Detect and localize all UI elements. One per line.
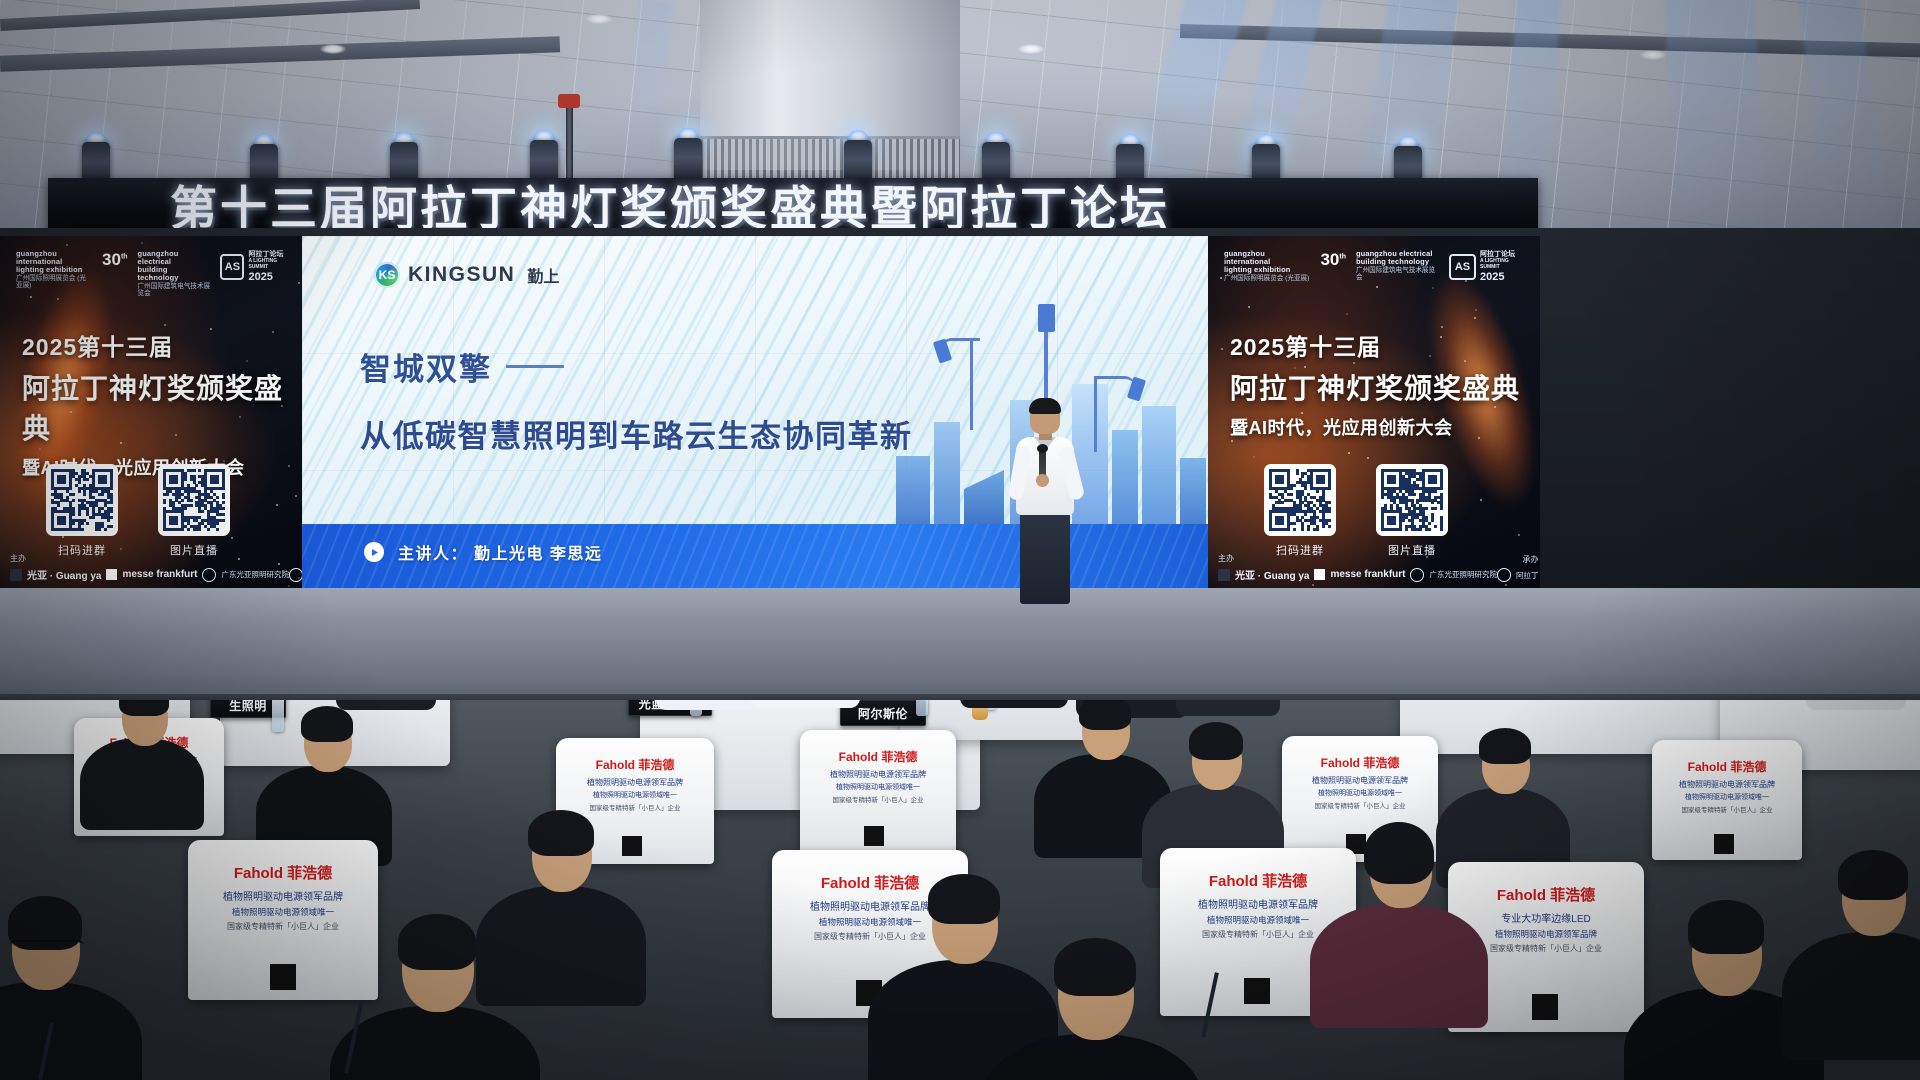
aladdin-icon	[1497, 568, 1511, 582]
chair-qr-icon	[864, 826, 884, 846]
poster-title-line1: 2025第十三届	[22, 328, 288, 362]
chair-brand: Fahold 菲浩德	[1160, 870, 1356, 891]
poster-credits: 主办 光亚 · Guang ya messe frankfurt 广东光亚照明研…	[10, 553, 292, 582]
as-year: 2025	[248, 271, 290, 284]
person-hair	[1688, 900, 1764, 954]
host-name-3: 广东光亚照明研究院	[221, 569, 289, 580]
street-lamp	[934, 336, 994, 430]
person-hair	[1079, 700, 1131, 730]
eyeglasses	[10, 940, 84, 952]
water-bottle	[272, 700, 284, 732]
chair-line3: 植物照明驱动电源领域唯一	[188, 906, 378, 918]
stage-floor	[0, 588, 1920, 708]
gebt-en-line1: guangzhou electrical	[138, 250, 211, 266]
person-shoulders	[656, 700, 762, 710]
event-poster-right: guangzhou international lighting exhibit…	[1208, 236, 1540, 588]
host-name-2: messe frankfurt	[122, 569, 197, 580]
host-name-1: 光亚 · Guang ya	[27, 567, 101, 582]
poster-qr-row: 扫码进群 图片直播	[46, 464, 230, 558]
chair-brand: Fahold 菲浩德	[188, 862, 378, 883]
person-shoulders	[1176, 700, 1280, 716]
chair-line3: 植物照明驱动电源领域唯一	[1652, 792, 1802, 802]
gile-en-line1: guangzhou international	[1224, 250, 1310, 266]
gebt-cn: 广州国际建筑电气技术展览会	[1356, 267, 1439, 281]
poster-title-block: 2025第十三届 阿拉丁神灯奖颁奖盛典 暨AI时代，光应用创新大会	[1230, 328, 1526, 440]
microphone-head	[1037, 444, 1048, 453]
chair-qr-icon	[1714, 834, 1734, 854]
gebt-cn: 广州国际建筑电气技术展览会	[138, 283, 211, 297]
messe-frankfurt-icon	[106, 569, 117, 580]
gdlighting-institute-icon	[202, 568, 216, 582]
poster-credits: 主办 光亚 · Guang ya messe frankfurt 广东光亚照明研…	[1218, 553, 1530, 582]
person-shoulders	[336, 700, 436, 710]
lamp-pole	[970, 338, 973, 430]
presenter-line: 主讲人： 勤上光电 李思远	[364, 540, 602, 564]
photo-live-qr[interactable]	[1376, 464, 1448, 536]
poster-title-line2: 阿拉丁神灯奖颁奖盛典	[22, 367, 288, 447]
street-lamp	[1084, 374, 1144, 452]
anniversary-number: 30	[1320, 250, 1339, 269]
kingsun-badge-icon: KS	[374, 262, 400, 288]
poster-sponsor-logos: guangzhou international lighting exhibit…	[16, 250, 290, 298]
aladdin-summit-text: 阿拉丁论坛 A LIGHTING SUMMIT 2025	[1480, 251, 1528, 283]
person-shoulders	[1310, 904, 1488, 1028]
gile-en-line2: lighting exhibition	[16, 266, 92, 274]
person-hair	[301, 706, 353, 742]
gebt-en-line2: building technology	[138, 266, 211, 282]
person-hair	[1838, 850, 1908, 900]
person-hair	[928, 874, 1000, 924]
slide-title-block: 智城双擎 从低碳智慧照明到车路云生态协同革新	[360, 344, 913, 456]
building	[934, 422, 960, 526]
chair-cover: Fahold 菲浩德 植物照明驱动电源领军品牌 植物照明驱动电源领域唯一 国家级…	[800, 730, 956, 854]
chair-qr-icon	[1244, 978, 1270, 1004]
host-name-1: 光亚 · Guang ya	[1235, 567, 1309, 582]
event-poster-left: guangzhou international lighting exhibit…	[0, 236, 302, 588]
building	[1180, 458, 1206, 526]
chair-line2: 植物照明驱动电源领军品牌	[188, 888, 378, 903]
coorganizer-label: 承办	[1522, 554, 1538, 565]
gdlighting-institute-icon	[1410, 568, 1424, 582]
chair-brand: Fahold 菲浩德	[1652, 758, 1802, 775]
join-group-qr-box[interactable]: 扫码进群	[46, 464, 118, 558]
poster-sponsor-logos: guangzhou international lighting exhibit…	[1224, 250, 1528, 283]
play-icon	[364, 542, 384, 562]
aladdin-icon	[289, 568, 302, 582]
anniversary-badge: 30th	[102, 251, 128, 269]
photo-live-qr-box[interactable]: 图片直播	[1376, 464, 1448, 558]
gebt-logo: guangzhou electrical building technology…	[1356, 250, 1439, 281]
chair-qr-icon	[622, 836, 642, 856]
person-hair	[1054, 938, 1136, 996]
chair-line2: 专业大功率边缘LED	[1448, 910, 1644, 925]
chair-line3: 植物照明驱动电源领域唯一	[1282, 788, 1438, 798]
coorganizer-credits: 承办 阿拉丁	[289, 554, 302, 582]
as-year: 2025	[1480, 271, 1528, 284]
speaker-hand	[1036, 474, 1049, 487]
person-shoulders	[80, 738, 204, 830]
poster-title-line1: 2025第十三届	[1230, 328, 1526, 362]
audience-area: 廖正德 生照明 光蓝半导体 阿尔斯伦	[0, 700, 1920, 1080]
guangya-icon	[10, 569, 22, 581]
chair-brand: Fahold 菲浩德	[1448, 884, 1644, 905]
chair-qr-icon	[270, 964, 296, 990]
join-group-qr-box[interactable]: 扫码进群	[1264, 464, 1336, 558]
photo-live-qr-box[interactable]: 图片直播	[158, 464, 230, 558]
coorganizer-name: 阿拉丁	[1516, 570, 1539, 581]
gebt-logo: guangzhou electrical building technology…	[138, 250, 211, 298]
ceiling-downlight	[1640, 50, 1666, 60]
anniversary-badge: 30th	[1320, 251, 1346, 269]
building	[964, 470, 1004, 526]
host-credits: 主办 光亚 · Guang ya messe frankfurt 广东光亚照明研…	[10, 553, 289, 582]
anniversary-suffix: th	[121, 253, 128, 260]
join-group-qr[interactable]	[46, 464, 118, 536]
person-hair	[398, 914, 476, 970]
chair-brand: Fahold 菲浩德	[1282, 754, 1438, 771]
gile-logo: guangzhou international lighting exhibit…	[1224, 250, 1310, 282]
chair-line4: 国家级专精特新「小巨人」企业	[188, 921, 378, 932]
kingsun-logo: KS KINGSUN 勤上	[374, 262, 559, 288]
chair-line3: 植物照明驱动电源领域唯一	[556, 790, 714, 800]
aladdin-summit-icon: AS	[1449, 254, 1476, 280]
gebt-en-line2: building technology	[1356, 258, 1439, 266]
person-shoulders	[330, 1006, 540, 1080]
person-shoulders	[0, 982, 142, 1080]
host-name-2: messe frankfurt	[1330, 569, 1405, 580]
person-hair	[528, 810, 594, 856]
chair-line4: 国家级专精特新「小巨人」企业	[1652, 804, 1802, 814]
person-shoulders	[960, 700, 1068, 708]
presenter-text: 主讲人： 勤上光电 李思远	[398, 540, 602, 564]
person-hair	[119, 700, 169, 716]
photo-live-qr[interactable]	[158, 464, 230, 536]
chair-line2: 植物照明驱动电源领军品牌	[1652, 779, 1802, 790]
messe-frankfurt-icon	[1314, 569, 1325, 580]
slide-title-line1-row: 智城双擎	[360, 344, 913, 389]
host-label: 主办	[10, 553, 289, 564]
gile-logo: guangzhou international lighting exhibit…	[16, 250, 92, 290]
aladdin-summit-text: 阿拉丁论坛 A LIGHTING SUMMIT 2025	[248, 251, 290, 283]
chair-line2: 植物照明驱动电源领军品牌	[1160, 896, 1356, 911]
chair-line4: 国家级专精特新「小巨人」企业	[800, 794, 956, 804]
host-credits: 主办 光亚 · Guang ya messe frankfurt 广东光亚照明研…	[1218, 553, 1497, 582]
person-shoulders	[1806, 700, 1906, 710]
stage-pole-fixture	[558, 94, 580, 108]
speaker-hair	[1029, 398, 1061, 414]
gile-cn: 广州国际照明展览会 (光亚展)	[16, 275, 92, 289]
slide-title-dash	[506, 365, 564, 368]
slide-title-line2: 从低碳智慧照明到车路云生态协同革新	[360, 411, 913, 456]
slide-title-line1: 智城双擎	[360, 344, 492, 389]
chair-line2: 植物照明驱动电源领军品牌	[1282, 775, 1438, 786]
ceiling-downlight	[586, 14, 612, 24]
chair-line4: 国家级专精特新「小巨人」企业	[556, 802, 714, 812]
aladdin-summit-icon: AS	[220, 254, 244, 280]
poster-title-line3: 暨AI时代，光应用创新大会	[1230, 414, 1526, 440]
water-bottle	[916, 700, 928, 716]
ceiling-downlight	[1018, 44, 1044, 54]
building	[1142, 406, 1176, 526]
kingsun-brand-name: KINGSUN	[408, 263, 515, 287]
chair-qr-icon	[1532, 994, 1558, 1020]
person-hair	[1364, 822, 1434, 884]
chair-line2: 植物照明驱动电源领军品牌	[556, 777, 714, 788]
anniversary-number: 30	[102, 250, 121, 269]
chair-cover: Fahold 菲浩德 植物照明驱动电源领军品牌 植物照明驱动电源领域唯一 国家级…	[1652, 740, 1802, 860]
person-hair	[1479, 728, 1531, 764]
as-en: A LIGHTING SUMMIT	[248, 259, 290, 271]
anniversary-suffix: th	[1339, 253, 1346, 260]
guangya-icon	[1218, 569, 1230, 581]
chair-line3: 植物照明驱动电源领域唯一	[800, 782, 956, 792]
building	[896, 456, 930, 526]
chair-brand: Fahold 菲浩德	[556, 756, 714, 773]
speaker-trousers	[1020, 512, 1070, 604]
kingsun-brand-cn: 勤上	[527, 263, 559, 287]
host-name-3: 广东光亚照明研究院	[1429, 569, 1497, 580]
chair-line2: 植物照明驱动电源领军品牌	[800, 769, 956, 780]
light-body	[674, 138, 702, 182]
person-shoulders	[750, 700, 860, 708]
person-shoulders	[1782, 932, 1920, 1060]
poster-title-block: 2025第十三届 阿拉丁神灯奖颁奖盛典 暨AI时代，光应用创新大会	[22, 328, 288, 480]
coorganizer-credits: 承办 阿拉丁	[1497, 554, 1539, 582]
gile-en-line2: lighting exhibition	[1224, 266, 1310, 274]
chair-brand: Fahold 菲浩德	[800, 748, 956, 765]
chair-cover: Fahold 菲浩德 植物照明驱动电源领军品牌 植物照明驱动电源领域唯一 国家级…	[188, 840, 378, 1000]
chair-line3: 植物照明驱动电源领域唯一	[1160, 914, 1356, 926]
person-hair	[1189, 722, 1243, 760]
host-label: 主办	[1218, 553, 1497, 564]
poster-qr-row: 扫码进群 图片直播	[1264, 464, 1448, 558]
lamp-head	[1038, 304, 1055, 332]
join-group-qr[interactable]	[1264, 464, 1336, 536]
as-en: A LIGHTING SUMMIT	[1480, 259, 1528, 271]
chair-line4: 国家级专精特新「小巨人」企业	[1282, 800, 1438, 810]
gile-cn: 广州国际照明展览会 (光亚展)	[1224, 275, 1310, 282]
conference-photo-scene: 第十三届阿拉丁神灯奖颁奖盛典暨阿拉丁论坛 guangzhou internati…	[0, 0, 1920, 1080]
gile-en-line1: guangzhou international	[16, 250, 92, 266]
ceiling-downlight	[320, 44, 346, 54]
speaker-presenter	[1006, 400, 1086, 618]
person-shoulders	[476, 886, 646, 1006]
poster-title-line2: 阿拉丁神灯奖颁奖盛典	[1230, 367, 1526, 407]
